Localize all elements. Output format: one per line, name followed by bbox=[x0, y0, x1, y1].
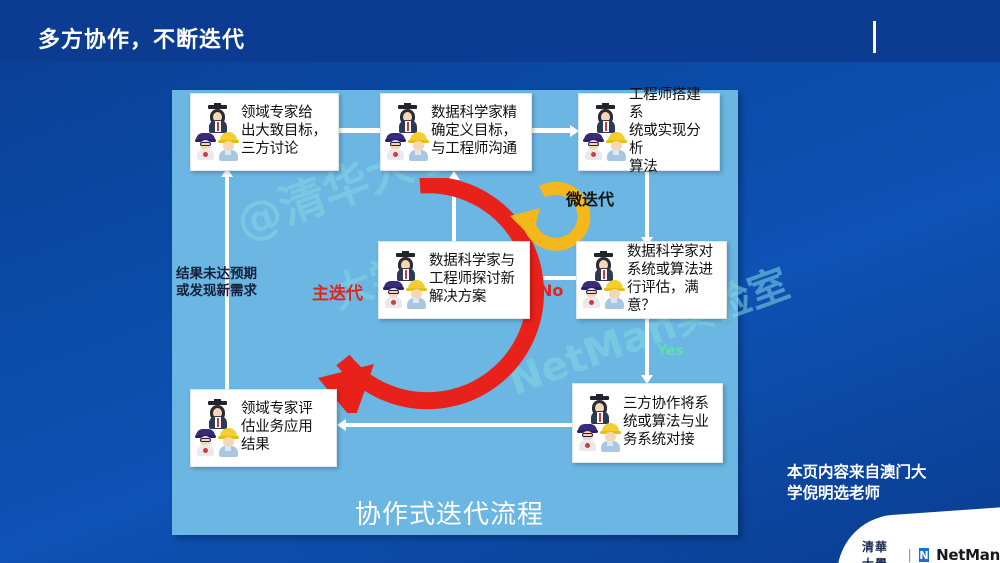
flow-box-label: 工程师搭建系 统或实现分析 算法 bbox=[629, 87, 713, 176]
analyst-avatar-icon bbox=[581, 278, 605, 308]
flow-box-eng-build[interactable]: 工程师搭建系 统或实现分析 算法 bbox=[578, 93, 720, 171]
avatar-trio bbox=[581, 251, 627, 309]
analyst-avatar-icon bbox=[195, 130, 219, 160]
engineer-avatar-icon bbox=[407, 130, 433, 161]
analyst-avatar-icon bbox=[195, 426, 219, 456]
label-main-iteration: 主迭代 bbox=[312, 279, 363, 304]
title-accent-bar bbox=[873, 21, 876, 53]
analyst-avatar-icon bbox=[383, 278, 407, 308]
flow-box-label: 数据科学家精 确定义目标， 与工程师沟通 bbox=[431, 105, 517, 158]
graduate-avatar-icon bbox=[394, 251, 418, 281]
graduate-avatar-icon bbox=[592, 251, 616, 281]
analyst-avatar-icon bbox=[577, 421, 601, 451]
avatar-trio bbox=[577, 394, 623, 452]
panel-caption: 协作式迭代流程 bbox=[355, 494, 544, 531]
flow-box-expert-review[interactable]: 领域专家评 估业务应用 结果 bbox=[190, 389, 337, 467]
connector-eng-to-evaluate bbox=[645, 172, 649, 240]
graduate-avatar-icon bbox=[206, 399, 230, 429]
connector-expert-to-ds bbox=[339, 128, 383, 133]
engineer-avatar-icon bbox=[217, 426, 243, 457]
flow-box-three-party-link[interactable]: 三方协作将系 统或算法与业 务系统对接 bbox=[572, 383, 723, 463]
connector-evaluate-to-link bbox=[645, 316, 649, 378]
source-note: 本页内容来自澳门大 学倪明选老师 bbox=[787, 462, 992, 504]
graduate-avatar-icon bbox=[588, 394, 612, 424]
avatar-trio bbox=[195, 103, 241, 161]
engineer-avatar-icon bbox=[603, 278, 629, 309]
avatar-trio bbox=[385, 103, 431, 161]
engineer-avatar-icon bbox=[599, 421, 625, 452]
avatar-trio bbox=[195, 399, 241, 457]
arrowhead-link-to-review bbox=[337, 419, 346, 431]
engineer-avatar-icon bbox=[605, 130, 631, 161]
flow-box-ds-eng-discuss[interactable]: 数据科学家与 工程师探讨新 解决方案 bbox=[378, 241, 530, 319]
tsinghua-logo: 清華大學 bbox=[862, 538, 900, 563]
netman-mark-icon: N bbox=[919, 548, 929, 562]
graduate-avatar-icon bbox=[206, 103, 230, 133]
netman-logo: NetMan bbox=[936, 546, 1000, 563]
avatar-trio bbox=[383, 251, 429, 309]
label-micro-iteration: 微迭代 bbox=[566, 186, 614, 210]
footer-logos: 清華大學 | N NetMan bbox=[862, 538, 1000, 563]
flow-box-label: 数据科学家与 工程师探讨新 解决方案 bbox=[429, 253, 515, 306]
logo-separator: | bbox=[907, 548, 911, 563]
flow-box-label: 领域专家评 估业务应用 结果 bbox=[241, 401, 313, 454]
graduate-avatar-icon bbox=[594, 103, 618, 133]
flow-box-label: 领域专家给 出大致目标， 三方讨论 bbox=[241, 105, 327, 158]
label-no-branch: No bbox=[539, 281, 563, 300]
flow-box-ds-define[interactable]: 数据科学家精 确定义目标， 与工程师沟通 bbox=[380, 93, 532, 171]
flow-box-label: 三方协作将系 统或算法与业 务系统对接 bbox=[623, 396, 709, 449]
avatar-trio bbox=[583, 103, 629, 161]
flow-box-expert-goal[interactable]: 领域专家给 出大致目标， 三方讨论 bbox=[190, 93, 339, 171]
label-yes-branch: Yes bbox=[657, 343, 684, 359]
label-left-note: 结果未达预期 或发现新需求 bbox=[176, 266, 257, 300]
slide-canvas: 多方协作，不断迭代 @清华大学 大学 NetMan实验室 bbox=[0, 0, 1000, 563]
page-title: 多方协作，不断迭代 bbox=[38, 22, 245, 54]
graduate-avatar-icon bbox=[396, 103, 420, 133]
engineer-avatar-icon bbox=[405, 278, 431, 309]
engineer-avatar-icon bbox=[217, 130, 243, 161]
connector-link-to-review bbox=[345, 423, 572, 427]
analyst-avatar-icon bbox=[583, 130, 607, 160]
flow-box-label: 数据科学家对 系统或算法进 行评估，满意？ bbox=[627, 244, 720, 315]
connector-ds-to-eng bbox=[529, 128, 571, 133]
flow-box-ds-evaluate[interactable]: 数据科学家对 系统或算法进 行评估，满意？ bbox=[576, 241, 727, 319]
analyst-avatar-icon bbox=[385, 130, 409, 160]
